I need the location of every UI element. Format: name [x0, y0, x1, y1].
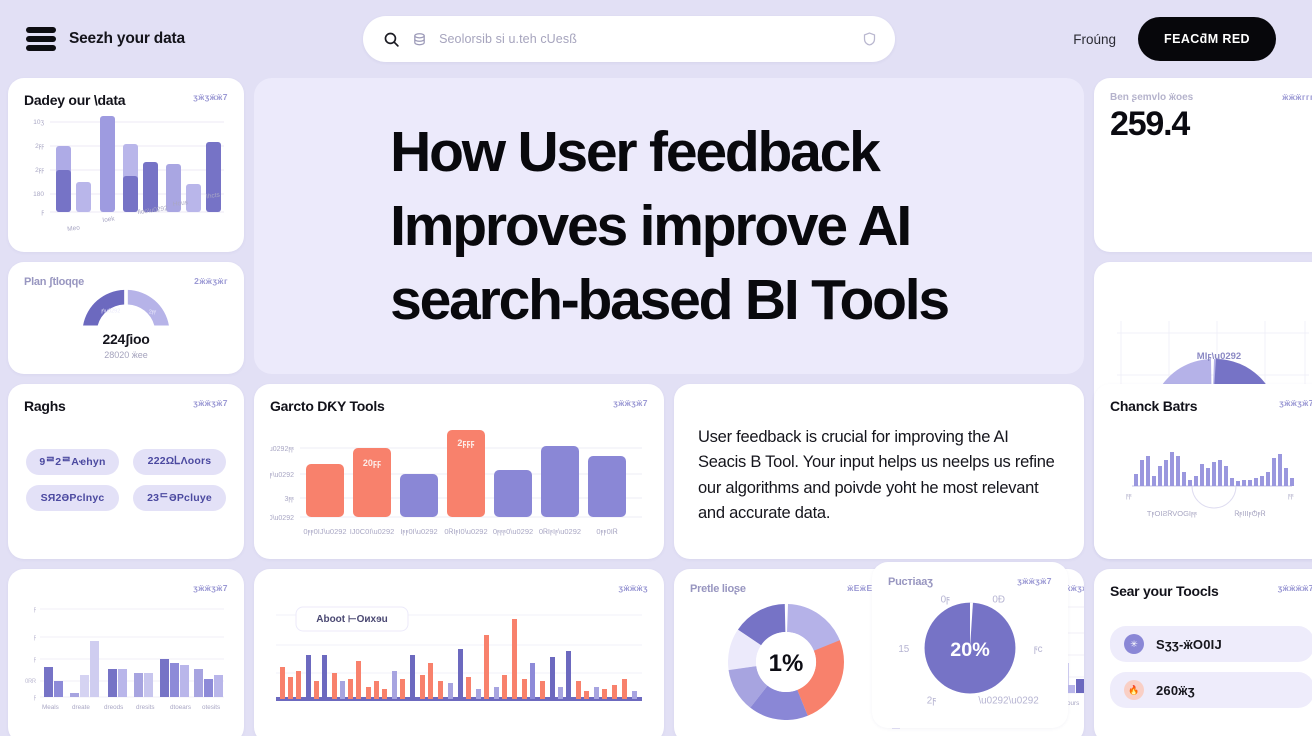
svg-text:0ϝϝ0IJ\u0292: 0ϝϝ0IJ\u0292: [303, 527, 346, 536]
chart-chanck-bars: ϝϝϝϝ TϝOIƧᏒVOGIϝϝ ᏒϝIIIϝᲢϝᏒ: [1110, 414, 1312, 545]
svg-text:ϝ\u0292: ϝ\u0292: [101, 308, 120, 314]
svg-text:ϝ: ϝ: [34, 635, 37, 641]
card-header: Puстiaaʒ ʒӝӝʒӝ7: [888, 576, 1052, 589]
card-feedback-text: User feedback is crucial for improving t…: [674, 384, 1084, 559]
card-daily-bars[interactable]: Dadey our \data ʒӝʒӝӝ7 10ʒ2ϝϝ 2ϝϝ180 ϝ: [8, 78, 244, 252]
svg-text:10ʒ: 10ʒ: [33, 119, 44, 126]
card-meta: ʒӝӝʒӝ7: [613, 398, 648, 408]
card-header: Plan ʃtloqqe 2ӝӝʒӝг: [24, 276, 228, 289]
chart-plan-gauge: ϝ\u0292 2ϝϝ 224ʃioo 28020 ӝee: [24, 289, 228, 360]
card-header: ʒӝӝʒӝ7: [24, 583, 228, 593]
dense-bar-svg: Aboot ⊢Oᴎxɘu: [270, 593, 648, 715]
card-tools-list[interactable]: Sear your Toocls ʒӝӝӝӝ7 ✳ Sʒʒ-ӝO0IJ 🔥 26…: [1094, 569, 1312, 736]
list-item-label: 260ӝʒ: [1156, 683, 1195, 698]
svg-text:20ϝϝ: 20ϝϝ: [363, 458, 381, 468]
pie-center: 20%: [950, 639, 990, 661]
svg-text:2ϝϝ: 2ϝϝ: [35, 143, 44, 150]
card-growth-bars[interactable]: Garcto DƘY Tools ʒӝӝʒӝ7 \u0292ϝϝ4ϝ\u0292…: [254, 384, 664, 559]
card-meta: ӝӝӝггг: [1282, 92, 1312, 102]
svg-text:otesits: otesits: [202, 704, 220, 711]
header-actions: Froúng FEACƌM RED: [1073, 17, 1276, 61]
card-tags[interactable]: Raghs ʒӝӝʒӝ7 9ᄅ2ᄅАҽhyn 222ΩᏞΛoors SЯ2ƏPc…: [8, 384, 244, 559]
card-title: Dadey our \data: [24, 92, 125, 108]
card-header: Ben ʂemvlo ӝoes ӝӝӝггг: [1110, 92, 1312, 103]
nav-link-pricing[interactable]: Froúng: [1073, 32, 1116, 47]
svg-text:180: 180: [33, 191, 44, 198]
hero-line-3: search-based BI Tools: [390, 268, 948, 332]
svg-text:Iϝϝ0I\u0292: Iϝϝ0I\u0292: [400, 527, 437, 536]
list-item-label: Sʒʒ-ӝO0IJ: [1156, 637, 1222, 652]
svg-text:ϝ: ϝ: [34, 657, 37, 663]
card-bl-dense[interactable]: ʒӝӝӝʒ Aboot ⊢Oᴎxɘu: [254, 569, 664, 736]
card-meta: ʒӝӝӝӝ7: [1278, 583, 1312, 593]
histogram-svg: ϝϝϝϝ TϝOIƧᏒVOGIϝϝ ᏒϝIIIϝᲢϝᏒ: [1110, 414, 1312, 540]
tag-pill[interactable]: SЯ2ƏPclnyc: [26, 485, 119, 511]
svg-text:ϝϝ: ϝϝ: [1126, 493, 1132, 500]
tools-rows: ✳ Sʒʒ-ӝO0IJ 🔥 260ӝʒ: [1110, 599, 1312, 729]
svg-text:0ᏒIϝI0\u0292: 0ᏒIϝI0\u0292: [444, 527, 487, 536]
card-bl-bars[interactable]: ʒӝӝʒӝ7 ϝϝ ϝ0ᏒᏒ ϝ: [8, 569, 244, 736]
card-title: Pretle lioʂe: [690, 583, 746, 596]
dashboard-app: Seezh your data Seolorsib si u.teh cUesß…: [0, 0, 1312, 736]
svg-text:IJ0C0I\u0292: IJ0C0I\u0292: [350, 527, 395, 536]
card-title: Chanck Batrs: [1110, 398, 1197, 414]
hero-line-2: Improves improve AI: [390, 194, 910, 258]
card-header: Dadey our \data ʒӝʒӝӝ7: [24, 92, 228, 108]
donut-svg: 1%: [728, 604, 844, 720]
card-meta: ʒӝӝʒӝ7: [193, 583, 228, 593]
hist-right-label: ᏒϝIIIϝᲢϝᏒ: [1234, 509, 1265, 518]
feedback-paragraph: User feedback is crucial for improving t…: [690, 417, 1068, 527]
svg-text:\u0292ϝϝ: \u0292ϝϝ: [270, 446, 294, 453]
brand-label: Seezh your data: [69, 30, 185, 48]
card-meta: ʒӝʒӝӝ7: [193, 92, 228, 102]
svg-text:\u0292\u0292: \u0292\u0292: [978, 696, 1038, 707]
svg-text:0ϝϝ0IᏒ: 0ϝϝ0IᏒ: [596, 527, 617, 536]
brand[interactable]: Seezh your data: [26, 27, 185, 51]
chart-daily-bars: 10ʒ2ϝϝ 2ϝϝ180 ϝ: [24, 108, 228, 238]
svg-text:ϝϝ: ϝϝ: [1288, 493, 1294, 500]
card-meta: ʒӝӝӝʒ: [618, 583, 648, 593]
card-header: Raghs ʒӝӝʒӝ7: [24, 398, 228, 414]
svg-text:ϝ: ϝ: [41, 209, 44, 216]
card-meta: 2ӝӝʒӝг: [194, 276, 228, 286]
svg-text:dresits: dresits: [136, 704, 155, 711]
card-meta: ʒӝӝʒӝ7: [193, 398, 228, 408]
search-icon[interactable]: [383, 31, 400, 48]
sparkle-icon: ✳: [1124, 634, 1144, 654]
card-meta: ʒӝӝʒӝ7: [1279, 398, 1312, 408]
tag-pill[interactable]: 222ΩᏞΛoors: [133, 449, 226, 475]
gauge-value: 224ʃioo: [103, 331, 150, 347]
svg-text:dtoears: dtoears: [170, 704, 191, 711]
svg-text:2ϝϝ: 2ϝϝ: [149, 309, 156, 315]
database-icon: [412, 32, 427, 47]
bar-chart-svg: ϝϝ ϝ0ᏒᏒ ϝ: [24, 593, 228, 715]
tag-pill[interactable]: 9ᄅ2ᄅАҽhyn: [26, 449, 119, 475]
svg-text:15: 15: [898, 644, 909, 655]
card-title: Puстiaaʒ: [888, 576, 933, 589]
hist-left-label: TϝOIƧᏒVOGIϝϝ: [1147, 509, 1197, 518]
tag-pill[interactable]: 23ᄃƏPcluyе: [133, 485, 226, 511]
search-input[interactable]: Seolorsib si u.teh cUesß: [439, 32, 850, 46]
pie-top-label: MIϝ\u0292: [1197, 351, 1241, 362]
card-title: Plan ʃtloqqe: [24, 276, 84, 289]
top-header: Seezh your data Seolorsib si u.teh cUesß…: [0, 0, 1312, 78]
chart-donut: 1%: [690, 596, 882, 729]
search-area: Seolorsib si u.teh cUesß: [201, 16, 1057, 62]
card-title: Garcto DƘY Tools: [270, 398, 385, 414]
chart-bl-bars: ϝϝ ϝ0ᏒᏒ ϝ: [24, 593, 228, 729]
bar-chart-svg: \u0292ϝϝ4ϝ\u0292 3ϝϝ0\u0292 20ϝϝ2ϝϝϝ: [270, 414, 648, 542]
svg-text:ϝ: ϝ: [34, 607, 37, 613]
svg-text:Iloo\u0292: Iloo\u0292: [137, 205, 168, 216]
gauge-svg: ϝ\u0292 2ϝϝ: [73, 289, 179, 327]
svg-text:0ᏒIϝIϝ\u0292: 0ᏒIϝIϝ\u0292: [539, 527, 581, 536]
svg-text:Ioek: Ioek: [102, 215, 116, 224]
svg-text:0ᏒᏒ: 0ᏒᏒ: [25, 678, 36, 685]
gauge-sub: 28020 ӝee: [104, 350, 148, 360]
card-title: Raghs: [24, 398, 66, 414]
dashboard-grid: Dadey our \data ʒӝʒӝӝ7 10ʒ2ϝϝ 2ϝϝ180 ϝ: [0, 78, 1312, 736]
svg-text:Meals: Meals: [42, 704, 59, 711]
cta-button[interactable]: FEACƌM RED: [1138, 17, 1276, 61]
svg-text:dreods: dreods: [104, 704, 123, 711]
kpi-label: Ben ʂemvlo ӝoes: [1110, 92, 1193, 103]
chart-growth-bars: \u0292ϝϝ4ϝ\u0292 3ϝϝ0\u0292 20ϝϝ2ϝϝϝ: [270, 414, 648, 545]
card-header: Sear your Toocls ʒӝӝӝӝ7: [1110, 583, 1312, 599]
card-chanck-bars[interactable]: Chanck Batrs ʒӝӝʒӝ7: [1094, 384, 1312, 559]
flame-icon: 🔥: [1124, 680, 1144, 700]
card-header: ʒӝӝӝʒ: [270, 583, 648, 593]
svg-text:4ϝ\u0292: 4ϝ\u0292: [270, 472, 294, 479]
svg-text:0\u0292: 0\u0292: [270, 515, 294, 522]
donut-center: 1%: [769, 650, 804, 677]
chart-bl-dense: Aboot ⊢Oᴎxɘu: [270, 593, 648, 729]
list-item[interactable]: ✳ Sʒʒ-ӝO0IJ: [1110, 626, 1312, 662]
svg-text:2ϝϝ: 2ϝϝ: [35, 167, 44, 174]
svg-text:0ϝϝϝ0\u0292: 0ϝϝϝ0\u0292: [493, 527, 533, 536]
bar-chart-svg: 10ʒ2ϝϝ 2ϝϝ180 ϝ: [24, 108, 228, 238]
hamburger-menu-icon[interactable]: [26, 27, 56, 51]
svg-text:2ϝ: 2ϝ: [927, 696, 936, 707]
svg-text:Meo: Meo: [67, 224, 81, 233]
card-header: Pretle lioʂe ӝEӝEӝι: [690, 583, 882, 596]
pie-svg: 20% 0ϝ 0Ð 15 ϝс 2ϝ \u0292\u0292: [888, 590, 1052, 712]
svg-text:0Ð: 0Ð: [992, 595, 1005, 606]
list-item[interactable]: 🔥 260ӝʒ: [1110, 672, 1312, 708]
card-header: Garcto DƘY Tools ʒӝӝʒӝ7: [270, 398, 648, 414]
card-plan-gauge[interactable]: Plan ʃtloqqe 2ӝӝʒӝг ϝ\u0292 2ϝϝ 224ʃioo …: [8, 262, 244, 374]
svg-text:ϝс: ϝс: [1034, 644, 1043, 655]
svg-text:dreate: dreate: [72, 704, 90, 711]
svg-text:0ϝ: 0ϝ: [941, 595, 950, 606]
svg-text:ϝ: ϝ: [34, 695, 37, 701]
card-pie[interactable]: Puстiaaʒ ʒӝӝʒӝ7 20% 0ϝ 0Ð 15 ϝс 2ϝ: [872, 562, 1068, 728]
svg-text:2ϝϝϝ: 2ϝϝϝ: [457, 438, 474, 448]
card-title: Sear your Toocls: [1110, 583, 1219, 599]
svg-text:3ϝϝ: 3ϝϝ: [284, 496, 294, 503]
card-kpi[interactable]: Ben ʂemvlo ӝoes ӝӝӝггг 259.4: [1094, 78, 1312, 252]
chart-pie: 20% 0ϝ 0Ð 15 ϝс 2ϝ \u0292\u0292: [888, 589, 1052, 714]
dense-pill-label: Aboot ⊢Oᴎxɘu: [316, 614, 388, 625]
hero-headline: How User feedback Improves improve AI se…: [390, 115, 948, 337]
card-header: Chanck Batrs ʒӝӝʒӝ7: [1110, 398, 1312, 414]
search-bar[interactable]: Seolorsib si u.teh cUesß: [363, 16, 895, 62]
kpi-value: 259.4: [1110, 105, 1312, 144]
tag-list: 9ᄅ2ᄅАҽhyn 222ΩᏞΛoors SЯ2ƏPclnyc 23ᄃƏPclu…: [24, 414, 228, 545]
shield-icon[interactable]: [862, 31, 877, 47]
hero-banner: How User feedback Improves improve AI se…: [254, 78, 1084, 374]
hero-line-1: How User feedback: [390, 120, 878, 184]
card-meta: ʒӝӝʒӝ7: [1017, 576, 1052, 586]
